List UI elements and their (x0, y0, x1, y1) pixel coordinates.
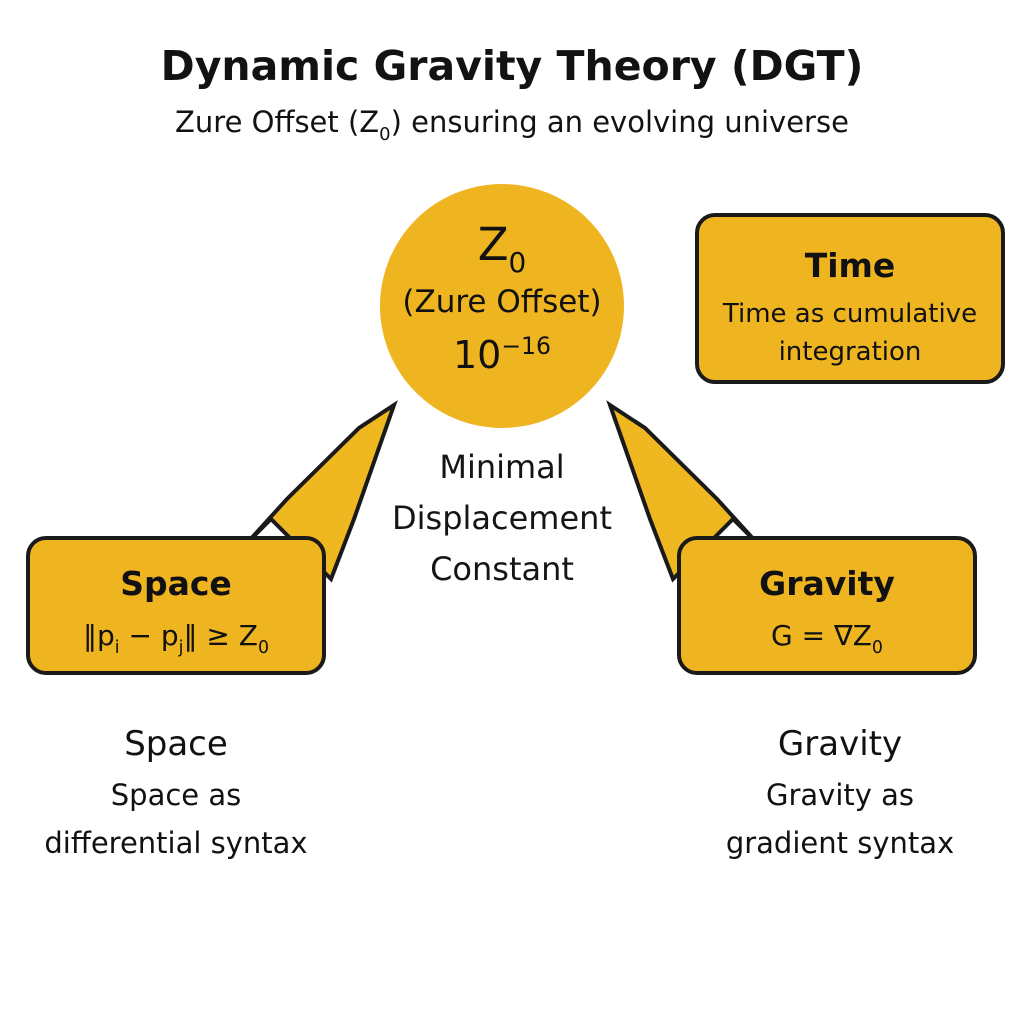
space-caption-line-2: differential syntax (44, 826, 307, 860)
z0-value-exponent: −16 (501, 332, 551, 360)
time-node-subline-2: integration (779, 337, 922, 367)
time-node-subline-1: Time as cumulative (722, 299, 977, 329)
center-label-line-2: Displacement (392, 499, 612, 537)
dgt-diagram: Dynamic Gravity Theory (DGT) Zure Offset… (0, 0, 1024, 1024)
space-formula-p3: ‖ ≥ Z (183, 619, 257, 652)
gravity-node-title: Gravity (759, 564, 895, 603)
space-caption-title: Space (124, 724, 228, 764)
z0-symbol: Z (478, 218, 509, 271)
page-title: Dynamic Gravity Theory (DGT) (161, 42, 864, 90)
gravity-formula-sub-0: 0 (872, 638, 883, 658)
space-formula-sub-z0: 0 (258, 638, 269, 658)
center-label-line-3: Constant (430, 550, 574, 588)
time-node-title: Time (805, 246, 896, 285)
gravity-caption-line-1: Gravity as (766, 778, 914, 812)
space-node-box[interactable] (28, 538, 324, 673)
page-subtitle: Zure Offset (Z0) ensuring an evolving un… (175, 105, 849, 145)
diagram-canvas: Dynamic Gravity Theory (DGT) Zure Offset… (0, 0, 1024, 1024)
page-subtitle-post: ) ensuring an evolving universe (391, 105, 849, 139)
page-subtitle-subscript: 0 (379, 124, 390, 145)
z0-subscript: 0 (509, 246, 527, 279)
space-node-title: Space (120, 564, 232, 603)
gravity-node-box[interactable] (679, 538, 975, 673)
z0-node-alias: (Zure Offset) (402, 284, 601, 320)
gravity-formula-p1: G = ∇Z (771, 619, 872, 652)
space-formula-p1: ‖p (83, 619, 115, 652)
z0-value-base: 10 (453, 333, 501, 377)
space-caption-line-1: Space as (111, 778, 241, 812)
space-formula-p2: − p (120, 619, 179, 652)
center-label-line-1: Minimal (439, 448, 564, 486)
page-subtitle-pre: Zure Offset (Z (175, 105, 379, 139)
gravity-caption-title: Gravity (778, 724, 902, 764)
gravity-caption-line-2: gradient syntax (726, 826, 954, 860)
